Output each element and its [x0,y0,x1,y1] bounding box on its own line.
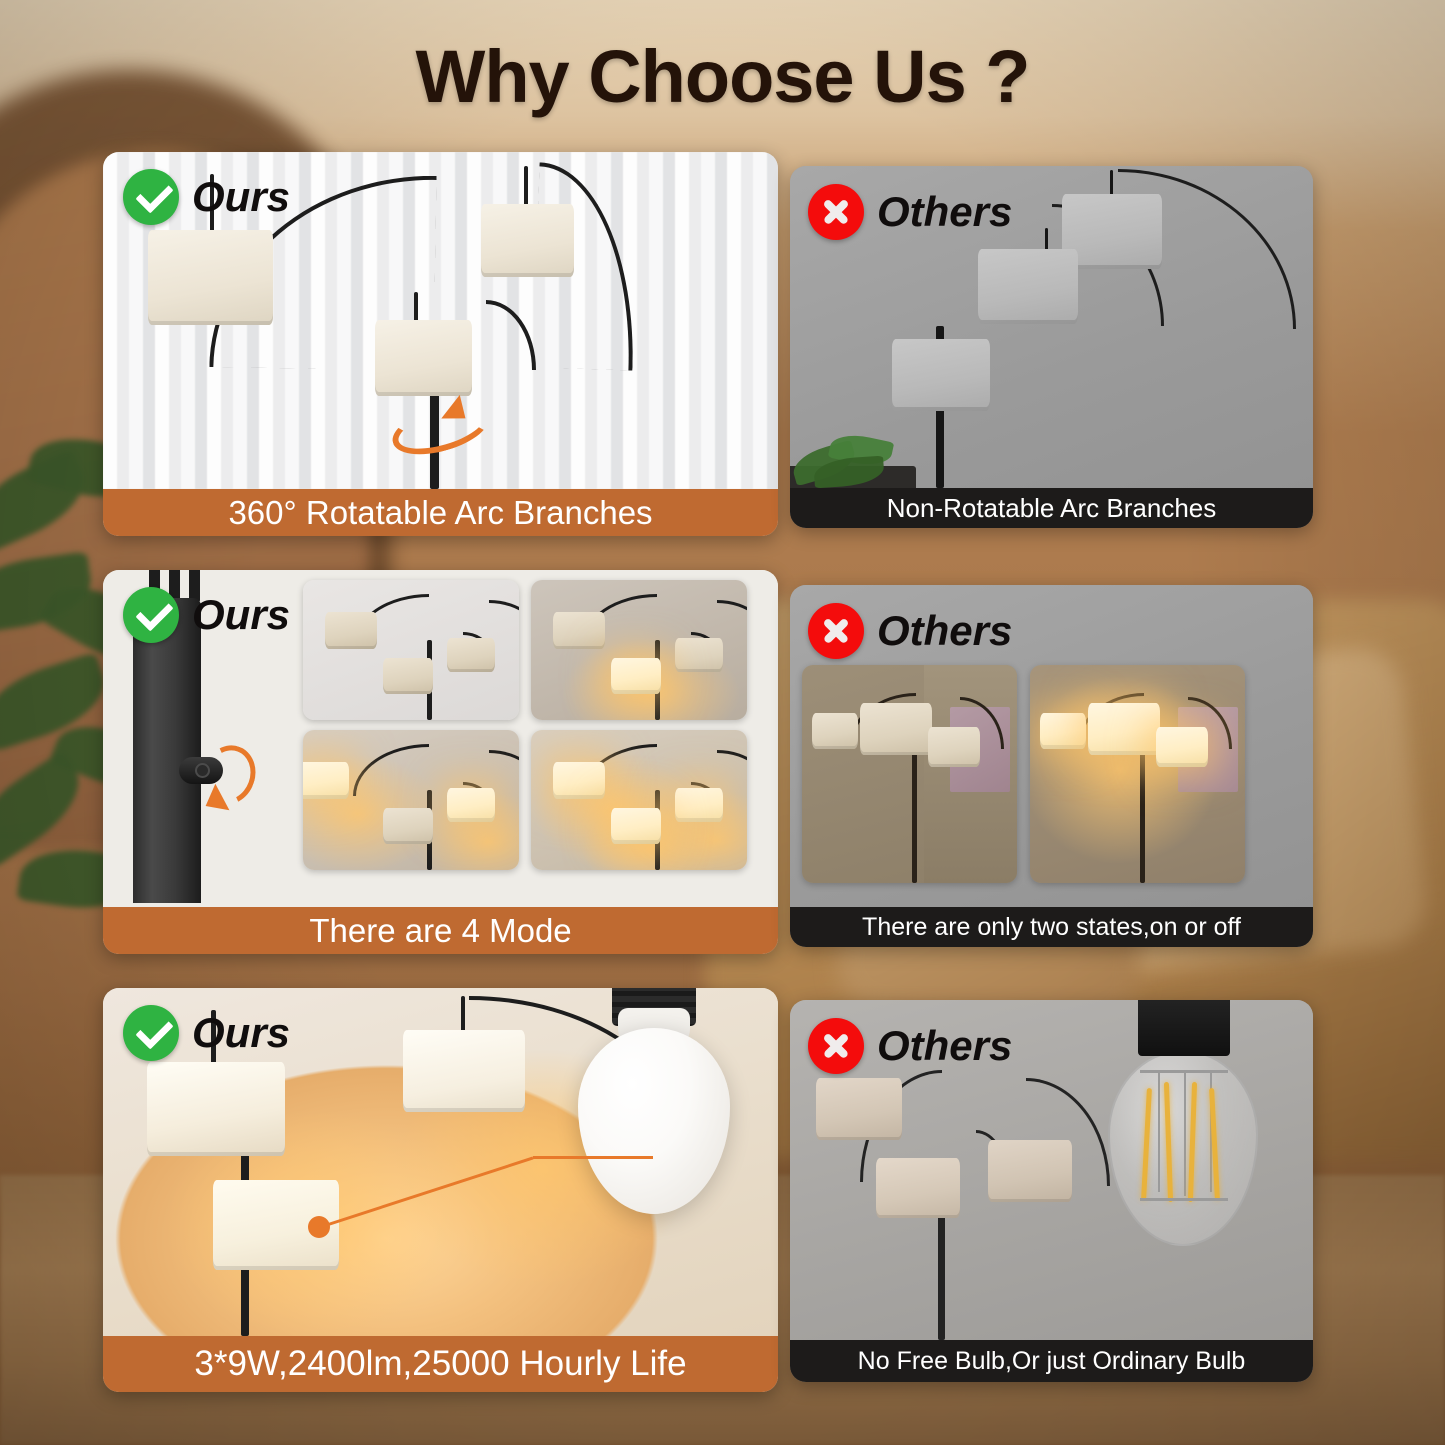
rotation-ours-caption-text: 360° Rotatable Arc Branches [228,494,652,532]
check-circle-icon [123,587,179,643]
leader-segment-diagonal [319,1157,534,1229]
rotation-ours-badge-label: Ours [192,176,290,218]
bulbs-ours-caption-text: 3*9W,2400lm,25000 Hourly Life [194,1344,686,1384]
others-shade-mid [978,249,1078,324]
mode-thumb-two [303,730,519,870]
check-circle-icon [123,1005,179,1061]
modes-others-caption-text: There are only two states,on or off [862,913,1241,942]
rotation-ours-badge-row: Ours [123,169,290,225]
rotation-arrow-icon [391,407,491,451]
state-thumb-off [802,665,1017,883]
others-shade-bottom [892,339,990,411]
mode-thumb-one [531,580,747,720]
rotation-others-caption-text: Non-Rotatable Arc Branches [887,493,1217,524]
pole-body [133,598,201,903]
others-bulbs-shade-mid [876,1158,960,1218]
lamp-shade-mid [375,320,472,396]
edison-filament [1164,1082,1173,1202]
bulbs-others-badge-label: Others [877,1025,1012,1067]
state-thumb-on [1030,665,1245,883]
row-bulbs-others-card: Others No Free Bulb,Or just Ordinary Bul… [790,1000,1313,1382]
bulbs-ours-badge-label: Ours [192,1012,290,1054]
check-circle-icon [123,169,179,225]
row-rotation-ours-card: Ours 360° Rotatable Arc Branches [103,152,778,536]
rotation-others-caption: Non-Rotatable Arc Branches [790,488,1313,528]
edison-filament [1141,1088,1152,1200]
cross-circle-icon [808,184,864,240]
cross-circle-icon [808,1018,864,1074]
modes-ours-badge-row: Ours [123,587,290,643]
lamp-shade-right [481,204,574,277]
others-bulbs-shade-right [988,1140,1072,1202]
modes-others-badge-row: Others [808,603,1012,659]
mode-thumb-all [531,730,747,870]
edison-filament [1188,1082,1197,1202]
bulbs-others-badge-row: Others [808,1018,1012,1074]
mode-thumb-off [303,580,519,720]
others-bulbs-shade-left [816,1078,902,1140]
row-bulbs-ours-card: Ours 3*9W,2400lm,25000 Hourly Life [103,988,778,1392]
page-title: Why Choose Us ? [0,34,1445,119]
plant-leaves [792,436,912,484]
bulbs-ours-badge-row: Ours [123,1005,290,1061]
modes-ours-badge-label: Ours [192,594,290,636]
rotation-others-badge-label: Others [877,191,1012,233]
leader-segment-horizontal [533,1156,653,1159]
bulbs-others-caption-text: No Free Bulb,Or just Ordinary Bulb [858,1347,1246,1376]
row-modes-ours-card: Ours There are 4 Mode [103,570,778,954]
modes-others-badge-label: Others [877,610,1012,652]
edison-bulb-base [1138,1000,1230,1056]
rotation-ours-caption: 360° Rotatable Arc Branches [103,489,778,536]
lamp-shade-left [148,230,273,325]
rotation-others-badge-row: Others [808,184,1012,240]
modes-others-caption: There are only two states,on or off [790,907,1313,947]
modes-ours-caption: There are 4 Mode [103,907,778,954]
row-modes-others-card: Others There are only two states,on or o… [790,585,1313,947]
row-rotation-others-card: Others Non-Rotatable Arc Branches [790,166,1313,528]
modes-ours-caption-text: There are 4 Mode [309,912,571,950]
bulbs-ours-caption: 3*9W,2400lm,25000 Hourly Life [103,1336,778,1392]
cross-circle-icon [808,603,864,659]
bulbs-others-caption: No Free Bulb,Or just Ordinary Bulb [790,1340,1313,1382]
